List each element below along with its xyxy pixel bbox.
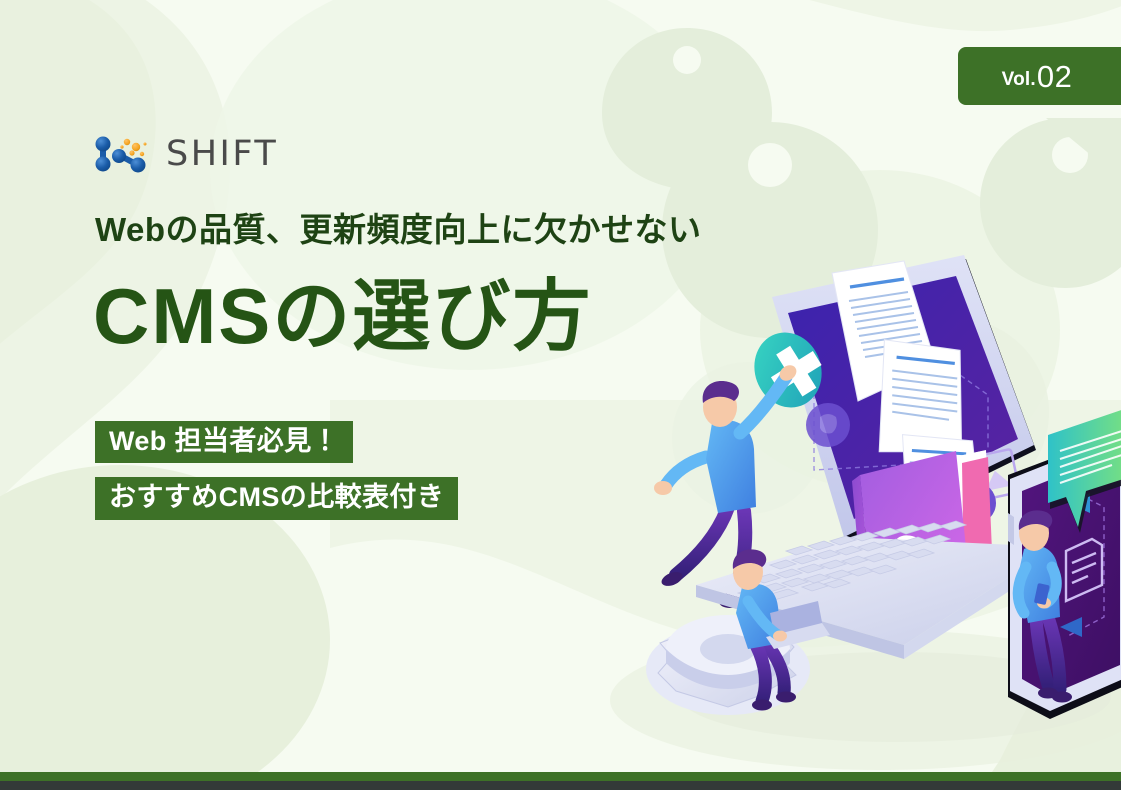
page-title: CMSの選び方 (93, 272, 592, 362)
brand-logo: SHIFT (95, 133, 278, 175)
cms-isometric-illustration: CMS (636, 245, 1121, 745)
cover-page: Vol. 02 (0, 0, 1121, 790)
subtitle: Webの品質、更新頻度向上に欠かせない (95, 210, 702, 250)
footer-green-bar (0, 772, 1121, 781)
tag-item: Web 担当者必見！ (95, 421, 353, 463)
tag-item: おすすめCMSの比較表付き (95, 477, 458, 519)
volume-label: Vol. (1002, 70, 1036, 89)
volume-badge: Vol. 02 (958, 47, 1121, 105)
volume-number: 02 (1037, 61, 1072, 92)
brand-wordmark: SHIFT (166, 137, 278, 172)
molecule-logo-icon (95, 134, 153, 174)
footer-dark-bar (0, 781, 1121, 790)
tag-list: Web 担当者必見！ おすすめCMSの比較表付き (95, 421, 458, 520)
